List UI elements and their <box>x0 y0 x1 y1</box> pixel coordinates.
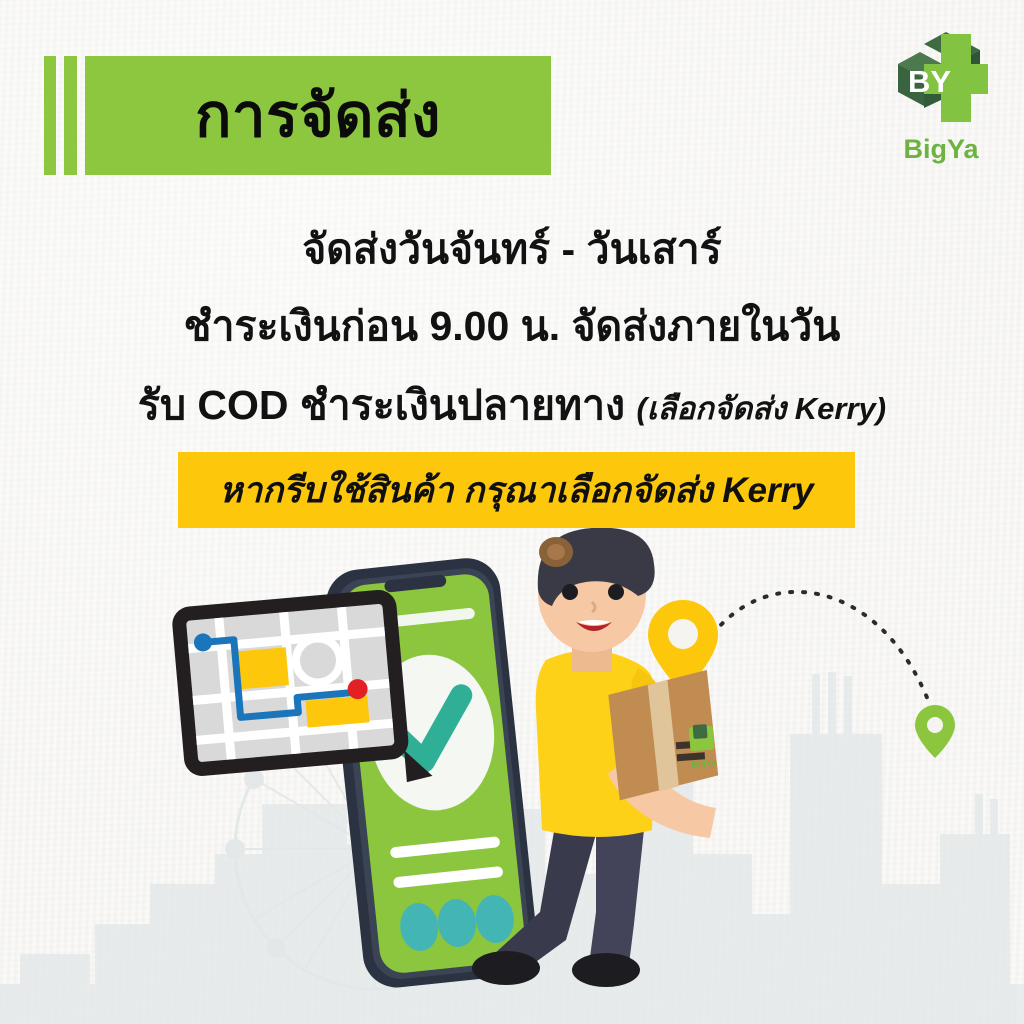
map-block-1 <box>234 647 289 689</box>
cod-main-text: รับ COD ชำระเงินปลายทาง <box>138 382 625 428</box>
parcel-label-text: BigYa <box>691 757 718 769</box>
brand-logo: BY BigYa <box>882 22 1000 172</box>
cutoff-time-line: ชำระเงินก่อน 9.00 น. จัดส่งภายในวัน <box>0 286 1024 366</box>
header-banner: การจัดส่ง <box>85 56 551 175</box>
logo-wordmark: BigYa <box>903 136 978 163</box>
cod-line: รับ COD ชำระเงินปลายทาง (เลือกจัดส่ง Ker… <box>0 366 1024 448</box>
cod-note-text: (เลือกจัดส่ง Kerry) <box>636 391 886 426</box>
delivery-info-poster: การจัดส่ง BY BigYa จัดส่งวันจันทร์ - วัน… <box>0 0 1024 1024</box>
highlight-text: หากรีบใช้สินค้า กรุณาเลือกจัดส่ง Kerry <box>219 463 813 518</box>
dashed-route-arc <box>705 592 930 705</box>
body-copy: จัดส่งวันจันทร์ - วันเสาร์ ชำระเงินก่อน … <box>0 212 1024 448</box>
page-title: การจัดส่ง <box>195 86 441 146</box>
courier-front-shoe <box>572 953 640 987</box>
map-block-2 <box>305 695 369 727</box>
destination-map-pin-icon <box>915 705 955 758</box>
logo-mark-letters: BY <box>908 64 951 99</box>
plus-cross-3d-icon: BY <box>886 22 996 134</box>
highlight-banner: หากรีบใช้สินค้า กรุณาเลือกจัดส่ง Kerry <box>178 452 855 528</box>
courier-back-shoe <box>472 951 540 985</box>
header-accent-bar-1 <box>44 56 56 175</box>
delivery-illustration: BigYa <box>0 520 1024 1024</box>
courier-eye-right <box>608 584 624 600</box>
courier-front-leg <box>588 820 645 972</box>
header-accent-bar-2 <box>64 56 77 175</box>
delivery-days-line: จัดส่งวันจันทร์ - วันเสาร์ <box>0 212 1024 286</box>
courier-eye-left <box>562 584 578 600</box>
route-path-group <box>705 592 930 705</box>
